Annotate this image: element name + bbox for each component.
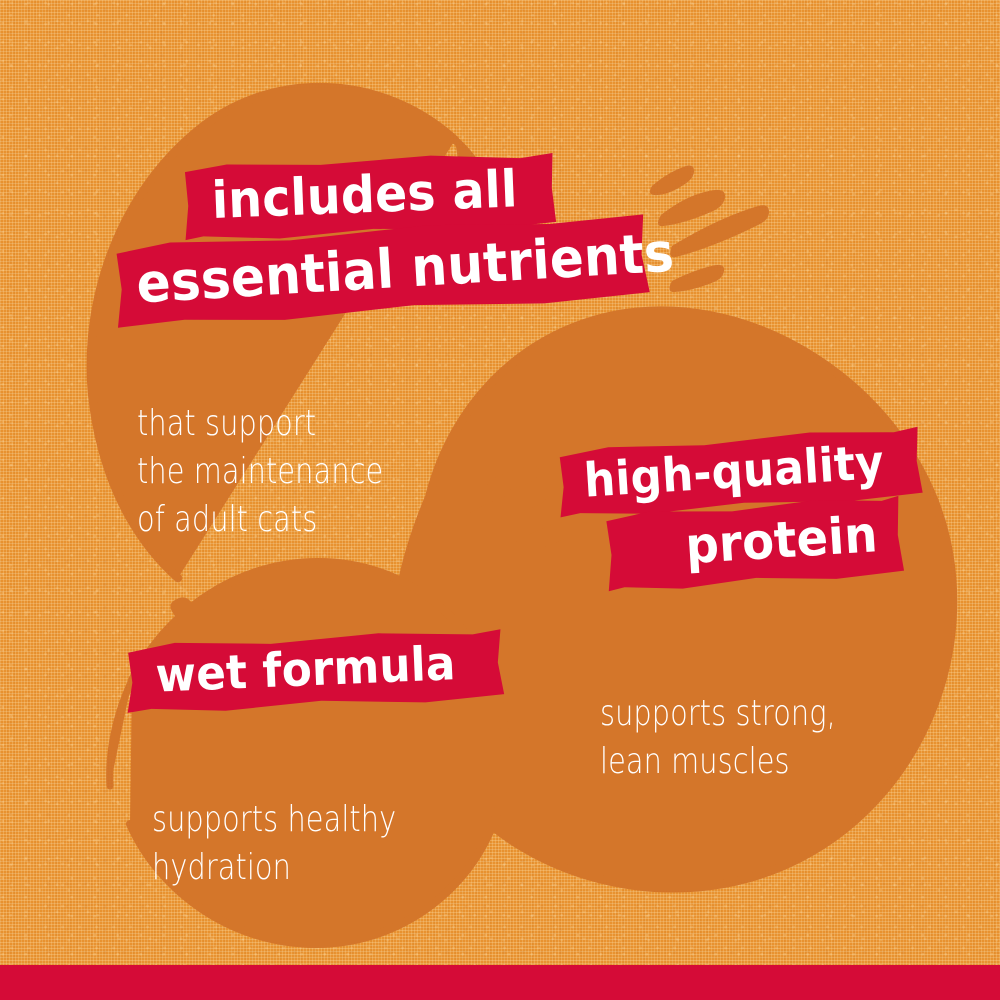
banner-protein-text: protein: [683, 491, 906, 590]
caption-hydration-text: supports healthy hydration: [152, 796, 396, 892]
bottom-accent-bar: [0, 965, 1000, 1000]
caption-hydration: supports healthy hydration: [152, 748, 457, 940]
banner-wet-formula-text: wet formula: [123, 626, 457, 716]
caption-nutrients: that support the maintenance of adult ca…: [137, 352, 445, 592]
caption-protein: supports strong, lean muscles: [600, 642, 895, 834]
banner-wet-formula: wet formula: [123, 624, 508, 716]
caption-nutrients-text: that support the maintenance of adult ca…: [137, 400, 383, 544]
caption-protein-text: supports strong, lean muscles: [600, 690, 836, 786]
promo-graphic: includes all essential nutrients high-qu…: [0, 0, 1000, 1000]
